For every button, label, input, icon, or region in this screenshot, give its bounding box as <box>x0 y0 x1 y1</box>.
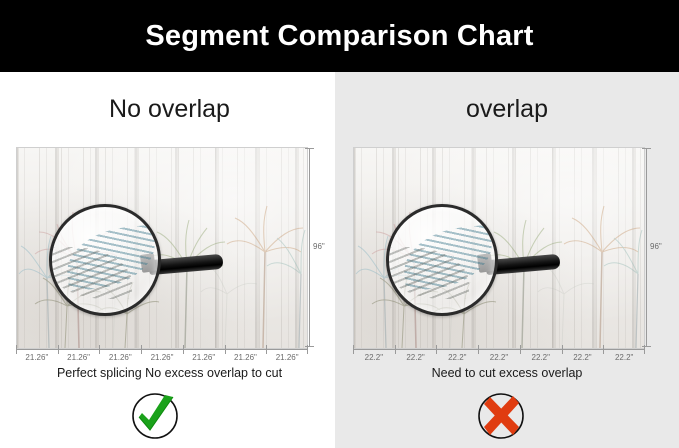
magnifier-lens <box>386 204 498 316</box>
dimension-tick <box>305 148 314 149</box>
comparison-chart-page: Segment Comparison Chart No overlap <box>0 0 679 448</box>
width-label: 22.2" <box>436 351 478 365</box>
width-label: 22.2" <box>603 351 645 365</box>
verdict-overlap <box>475 390 527 442</box>
width-label: 22.2" <box>520 351 562 365</box>
dimension-tick <box>642 346 651 347</box>
panel-heading-overlap: overlap <box>335 94 679 124</box>
caption-no-overlap: Perfect splicing No excess overlap to cu… <box>0 364 339 382</box>
dimension-rule <box>353 349 645 350</box>
dimension-tick <box>642 148 651 149</box>
dimension-rule <box>16 349 308 350</box>
width-label: 22.2" <box>478 351 520 365</box>
width-label: 22.2" <box>353 351 395 365</box>
header-bar: Segment Comparison Chart <box>0 0 679 72</box>
magnifier-lens <box>49 204 161 316</box>
width-label: 21.26" <box>225 351 267 365</box>
figure-no-overlap <box>16 147 308 349</box>
panel-no-overlap: No overlap <box>0 72 339 448</box>
figure-overlap <box>353 147 645 349</box>
height-label-no-overlap: 96" <box>313 242 325 251</box>
width-labels-overlap: 22.2" 22.2" 22.2" 22.2" 22.2" 22.2" 22.2… <box>353 351 645 365</box>
dimension-rule <box>646 148 647 347</box>
width-label: 22.2" <box>395 351 437 365</box>
width-label: 21.26" <box>99 351 141 365</box>
dimension-rule <box>309 148 310 347</box>
panel-heading-no-overlap: No overlap <box>0 94 339 124</box>
width-label: 21.26" <box>183 351 225 365</box>
dimension-tick <box>305 346 314 347</box>
check-icon <box>129 390 181 442</box>
width-label: 22.2" <box>562 351 604 365</box>
cross-icon <box>475 390 527 442</box>
width-label: 21.26" <box>266 351 308 365</box>
width-label: 21.26" <box>141 351 183 365</box>
verdict-no-overlap <box>129 390 181 442</box>
width-labels-no-overlap: 21.26" 21.26" 21.26" 21.26" 21.26" 21.26… <box>16 351 308 365</box>
page-title: Segment Comparison Chart <box>0 18 679 54</box>
width-label: 21.26" <box>58 351 100 365</box>
height-label-overlap: 96" <box>650 242 662 251</box>
width-label: 21.26" <box>16 351 58 365</box>
panel-overlap: overlap <box>335 72 679 448</box>
caption-overlap: Need to cut excess overlap <box>335 364 679 382</box>
